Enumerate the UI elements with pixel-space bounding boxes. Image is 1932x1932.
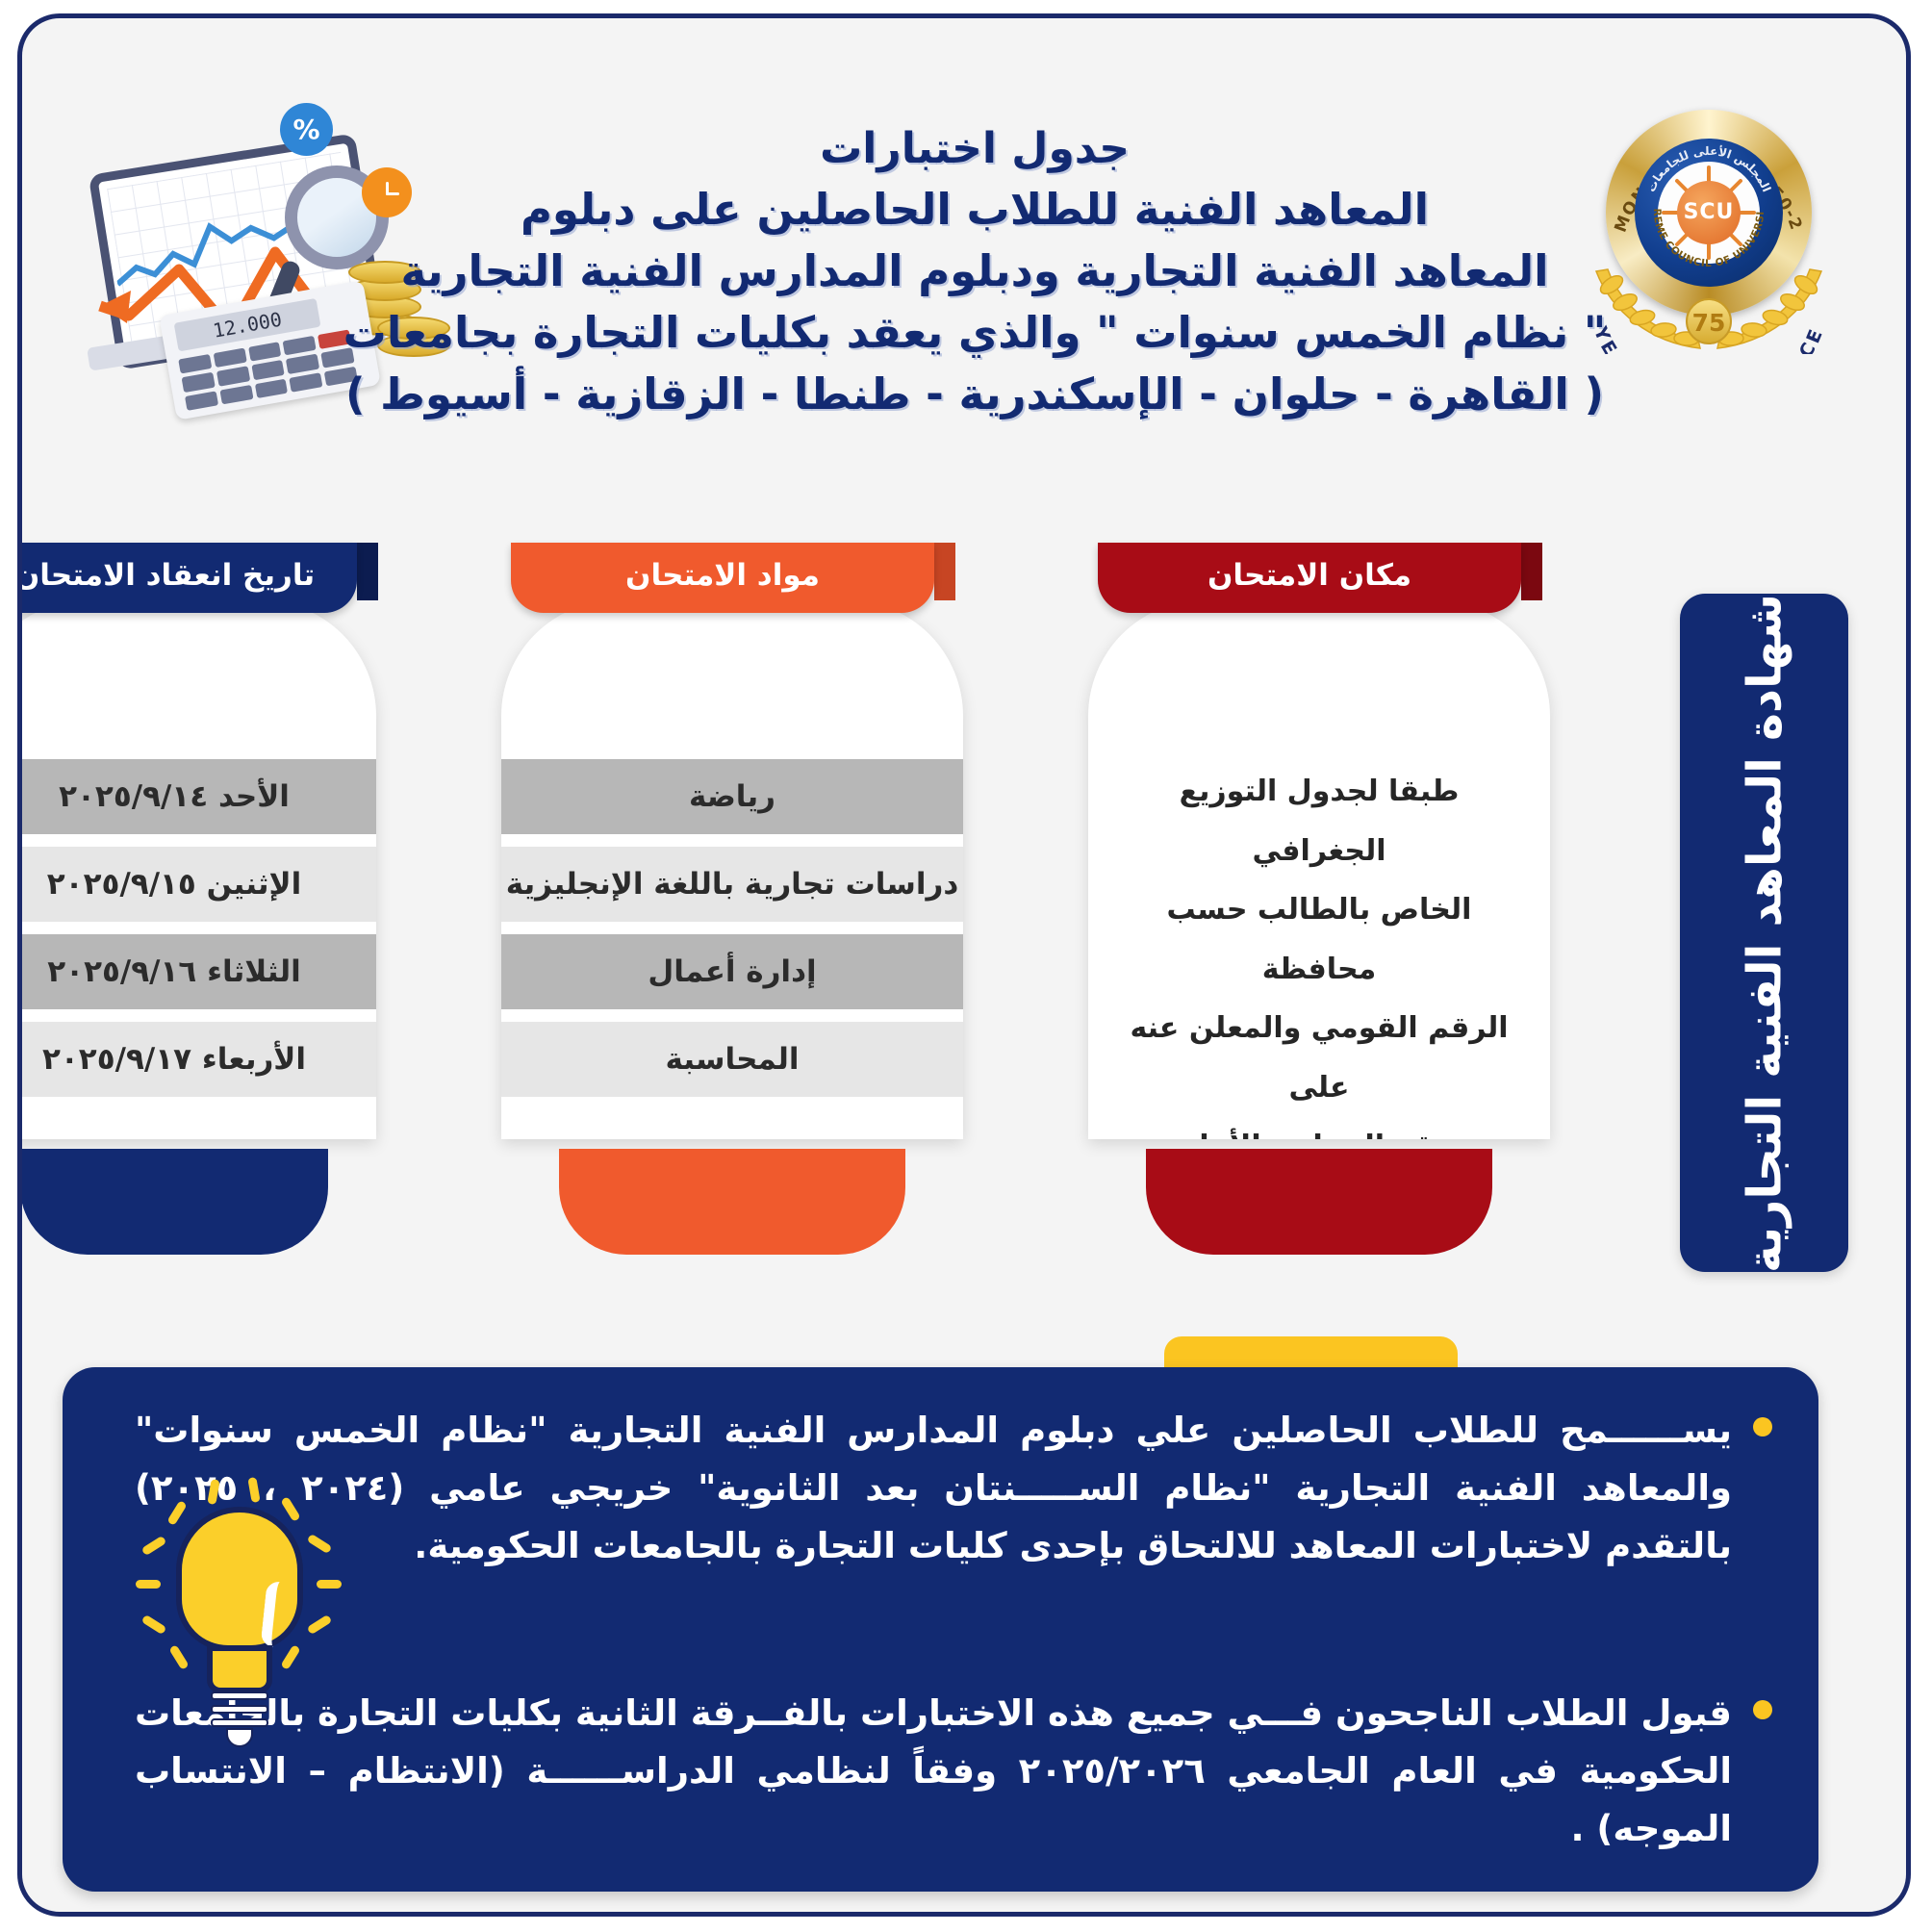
exam-subjects-card: رياضة دراسات تجارية باللغة الإنجليزية إد… [501, 600, 963, 1139]
emblem-excellence-text: YEARS OF EXCELLENCE [1581, 298, 1837, 354]
table-row: المحاسبة [501, 1022, 963, 1097]
emblem-acronym: SCU [1677, 181, 1741, 244]
scu-logo-icon: DIAMOND JUBILEE 1950-2025 المجلس الأعلى … [1589, 110, 1829, 355]
exam-place-card: طبقا لجدول التوزيع الجغرافي الخاص بالطال… [1088, 600, 1550, 1139]
column-header-exam-place: مكان الامتحان [1098, 543, 1521, 613]
table-row: الإثنين ٢٠٢٥/٩/١٥ [17, 847, 376, 922]
page-title: جدول اختبارات المعاهد الفنية للطلاب الحا… [340, 119, 1610, 425]
table-row: إدارة أعمال [501, 934, 963, 1009]
date-header-tail [357, 543, 378, 600]
bullet-dot-icon [1753, 1417, 1772, 1436]
place-line: الرقم القومي والمعلن عنه على [1125, 999, 1513, 1117]
title-line-4: " نظام الخمس سنوات " والذي يعقد بكليات ا… [340, 302, 1610, 364]
note-item: قبول الطلاب الناجحون فـــي جميع هذه الاخ… [135, 1685, 1732, 1858]
certificate-side-label: شهادة المعاهد الفنية التجارية [1680, 594, 1848, 1272]
title-line-5: ( القاهرة - حلوان - الإسكندرية - طنطا - … [340, 364, 1610, 425]
percent-badge-icon: % [280, 103, 333, 156]
title-line-3: المعاهد الفنية التجارية ودبلوم المدارس ا… [340, 241, 1610, 302]
exam-date-rows: الأحد ٢٠٢٥/٩/١٤ الإثنين ٢٠٢٥/٩/١٥ الثلاث… [17, 759, 376, 1109]
title-line-1: جدول اختبارات [340, 119, 1610, 179]
table-row: الأحد ٢٠٢٥/٩/١٤ [17, 759, 376, 834]
table-row: الأربعاء ٢٠٢٥/٩/١٧ [17, 1022, 376, 1097]
certificate-side-label-text: شهادة المعاهد الفنية التجارية [1737, 594, 1792, 1273]
infographic-page: 12.000 % جدول اختبارات المعاهد الفنية لل… [17, 13, 1911, 1917]
table-row: دراسات تجارية باللغة الإنجليزية [501, 847, 963, 922]
exam-subject-rows: رياضة دراسات تجارية باللغة الإنجليزية إد… [501, 759, 963, 1109]
bulb-highlight [261, 1581, 293, 1648]
exam-schedule-table: الأحد ٢٠٢٥/٩/١٤ الإثنين ٢٠٢٥/٩/١٥ الثلاث… [22, 543, 1906, 1264]
place-line: الخاص بالطالب حسب محافظة [1125, 880, 1513, 999]
column-header-exam-date: تاريخ انعقاد الامتحان [17, 543, 357, 613]
table-row: الثلاثاء ٢٠٢٥/٩/١٦ [17, 934, 376, 1009]
table-row: رياضة [501, 759, 963, 834]
exam-date-card-footer [20, 1149, 328, 1255]
exam-place-card-footer [1146, 1149, 1492, 1255]
header: 12.000 % جدول اختبارات المعاهد الفنية لل… [22, 18, 1906, 499]
excellence-label: YEARS OF EXCELLENCE [1589, 322, 1828, 354]
bulb-neck [207, 1645, 272, 1693]
lightbulb-icon [118, 1466, 359, 1784]
place-header-tail [1521, 543, 1542, 600]
subject-header-tail [934, 543, 955, 600]
exam-date-card: الأحد ٢٠٢٥/٩/١٤ الإثنين ٢٠٢٥/٩/١٥ الثلاث… [17, 600, 376, 1139]
place-line: موقع المجلس الأعلى للجامعات [1125, 1117, 1513, 1139]
place-line: طبقا لجدول التوزيع الجغرافي [1125, 762, 1513, 880]
bulb-glass [176, 1507, 303, 1651]
title-line-2: المعاهد الفنية للطلاب الحاصلين على دبلوم [340, 179, 1610, 241]
note-item: يســــــمح للطلاب الحاصلين علي دبلوم الم… [135, 1402, 1732, 1575]
exam-subjects-card-footer [559, 1149, 905, 1255]
column-header-exam-subjects: مواد الامتحان [511, 543, 934, 613]
svg-text:YEARS OF EXCELLENCE: YEARS OF EXCELLENCE [1589, 322, 1828, 354]
exam-place-text: طبقا لجدول التوزيع الجغرافي الخاص بالطال… [1125, 762, 1513, 1139]
bullet-dot-icon [1753, 1700, 1772, 1719]
